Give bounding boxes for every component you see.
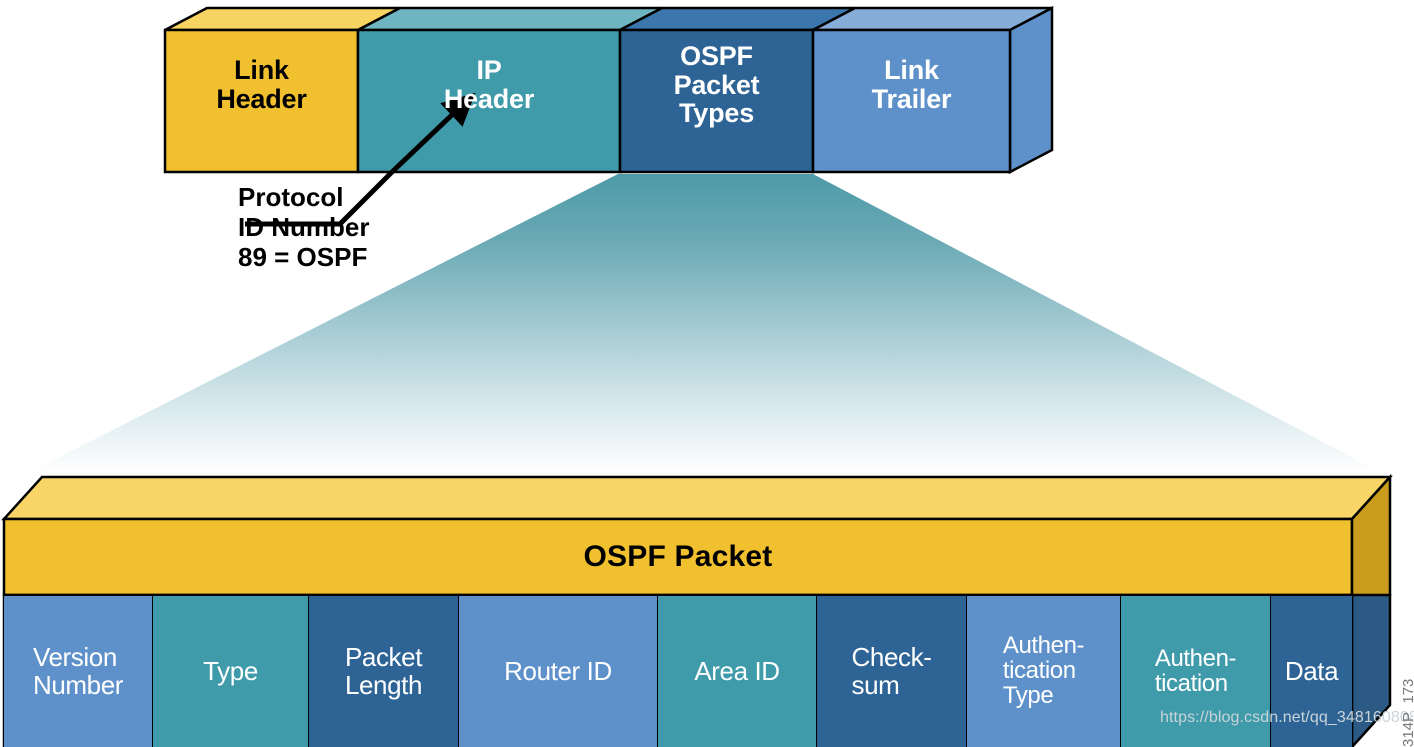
protocol-id-callout: Protocol ID Number 89 = OSPF (238, 182, 369, 272)
packet-field-label: PacketLength (309, 596, 458, 747)
packet-field-authentication-type[interactable]: Authen-ticationType (967, 596, 1120, 747)
segment-label-link-header: LinkHeader (165, 56, 358, 113)
packet-field-checksum[interactable]: Check-sum (817, 596, 966, 747)
packet-field-label: Router ID (459, 596, 657, 747)
slide-code-label: 314P_173 (1400, 679, 1414, 747)
ospf-packet-header-label: OSPF Packet (4, 541, 1352, 573)
packet-field-label: VersionNumber (4, 596, 152, 747)
packet-field-packet-length[interactable]: PacketLength (309, 596, 458, 747)
packet-field-label: Authen-ticationType (967, 596, 1120, 747)
callout-line-1: Protocol (238, 182, 369, 212)
diagram-canvas: VersionNumber Type PacketLength Router I… (0, 0, 1414, 747)
packet-field-area-id[interactable]: Area ID (658, 596, 816, 747)
packet-field-type[interactable]: Type (153, 596, 308, 747)
packet-field-router-id[interactable]: Router ID (459, 596, 657, 747)
segment-label-link-trailer: LinkTrailer (813, 56, 1010, 113)
link-trailer-side-face (1010, 8, 1052, 172)
packet-field-label: Type (153, 596, 308, 747)
csdn-watermark: https://blog.csdn.net/qq_348160808 (1160, 709, 1414, 727)
callout-line-3: 89 = OSPF (238, 242, 369, 272)
segment-label-ospf-packet-types: OSPFPacketTypes (620, 42, 813, 128)
ospf-packet-header-top-face (4, 477, 1390, 519)
packet-field-label: Area ID (658, 596, 816, 747)
packet-field-version-number[interactable]: VersionNumber (4, 596, 152, 747)
callout-line-2: ID Number (238, 212, 369, 242)
ip-header-top-face (358, 8, 662, 30)
packet-field-label: Check-sum (817, 596, 966, 747)
segment-label-ip-header: IPHeader (358, 56, 620, 113)
